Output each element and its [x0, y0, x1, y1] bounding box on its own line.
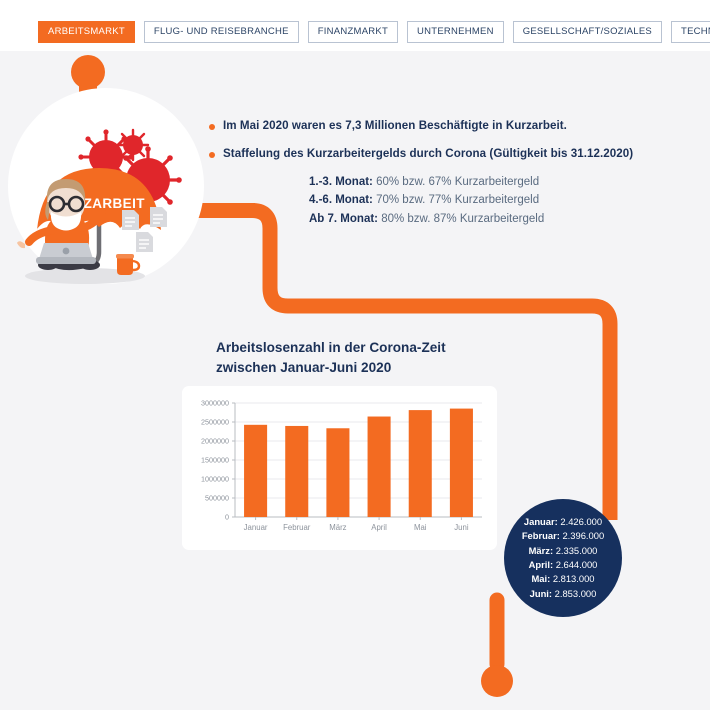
- data-circle-row: Januar: 2.426.000: [524, 515, 602, 529]
- tier-label: Ab 7. Monat:: [309, 213, 378, 225]
- document-icon: [122, 210, 139, 230]
- chart-title-line-2: zwischen Januar-Juni 2020: [216, 358, 536, 378]
- data-circle-row: Mai: 2.813.000: [531, 572, 594, 586]
- chart-bar: [450, 409, 473, 517]
- document-icon: [150, 207, 167, 227]
- data-circle-row: Juni: 2.853.000: [530, 587, 597, 601]
- monthly-values-circle: Januar: 2.426.000 Februar: 2.396.000 Mär…: [504, 499, 622, 617]
- data-circle-value: 2.853.000: [555, 588, 597, 599]
- data-circle-row: April: 2.644.000: [529, 558, 598, 572]
- x-tick-label: März: [329, 523, 346, 532]
- chart-bar: [368, 417, 391, 517]
- chart-bars: [244, 409, 473, 517]
- tab-flug-und-reisebranche[interactable]: FLUG- UND REISEBRANCHE: [144, 21, 299, 43]
- tier-label: 4.-6. Monat:: [309, 194, 373, 206]
- unemployment-bar-chart: 0500000100000015000002000000250000030000…: [182, 386, 497, 550]
- data-circle-row: März: 2.335.000: [529, 544, 598, 558]
- y-tick-label: 1500000: [201, 456, 229, 465]
- tier-label: 1.-3. Monat:: [309, 176, 373, 188]
- y-tick-label: 3000000: [201, 399, 229, 408]
- bullet-label: Im Mai 2020 waren es 7,3 Millionen Besch…: [223, 118, 567, 134]
- kurzarbeitergeld-tier-list: 1.-3. Monat: 60% bzw. 67% Kurzarbeiterge…: [209, 173, 699, 227]
- chart-bar: [326, 428, 349, 517]
- y-tick-label: 1000000: [201, 475, 229, 484]
- chart-bar: [409, 410, 432, 517]
- data-circle-month: Juni:: [530, 588, 552, 599]
- bullet-label: Staffelung des Kurzarbeitergelds durch C…: [223, 146, 633, 162]
- y-tick-label: 2500000: [201, 418, 229, 427]
- document-icon: [136, 232, 153, 252]
- chart-title-line-1: Arbeitslosenzahl in der Corona-Zeit: [216, 338, 536, 358]
- bullet-dot-icon: [209, 124, 215, 130]
- x-tick-label: Juni: [454, 523, 469, 532]
- tab-finanzmarkt[interactable]: FINANZMARKT: [308, 21, 398, 43]
- y-tick-label: 0: [225, 513, 229, 522]
- data-circle-value: 2.813.000: [553, 573, 595, 584]
- infographic-canvas: ARBEITSMARKT FLUG- UND REISEBRANCHE FINA…: [0, 0, 710, 710]
- tab-unternehmen[interactable]: UNTERNEHMEN: [407, 21, 504, 43]
- chart-y-axis-labels: 0500000100000015000002000000250000030000…: [201, 399, 235, 522]
- y-tick-label: 500000: [205, 494, 229, 503]
- tier-value: 80% bzw. 87% Kurzarbeitergeld: [381, 213, 544, 225]
- data-circle-month: März:: [529, 545, 553, 556]
- chart-title: Arbeitslosenzahl in der Corona-Zeit zwis…: [216, 338, 536, 377]
- data-circle-value: 2.335.000: [556, 545, 598, 556]
- chart-bar: [244, 425, 267, 517]
- laptop-icon: [36, 243, 96, 264]
- data-circle-month: Januar:: [524, 516, 558, 527]
- x-tick-label: Mai: [414, 523, 427, 532]
- data-circle-month: April:: [529, 559, 553, 570]
- key-facts-block: Im Mai 2020 waren es 7,3 Millionen Besch…: [209, 118, 699, 228]
- data-circle-row: Februar: 2.396.000: [522, 529, 604, 543]
- chart-gridlines: [235, 403, 482, 517]
- data-circle-value: 2.396.000: [562, 530, 604, 541]
- tier-value: 60% bzw. 67% Kurzarbeitergeld: [376, 176, 539, 188]
- tab-arbeitsmarkt[interactable]: ARBEITSMARKT: [38, 21, 135, 43]
- x-tick-label: April: [371, 523, 387, 532]
- data-circle-value: 2.644.000: [556, 559, 598, 570]
- x-tick-label: Februar: [283, 523, 311, 532]
- x-tick-label: Januar: [244, 523, 268, 532]
- tab-technologie[interactable]: TECHNOLOGIE: [671, 21, 710, 43]
- data-circle-value: 2.426.000: [560, 516, 602, 527]
- tab-list: ARBEITSMARKT FLUG- UND REISEBRANCHE FINA…: [38, 21, 710, 43]
- tab-gesellschaft-soziales[interactable]: GESELLSCHAFT/SOZIALES: [513, 21, 662, 43]
- chart-x-axis-labels: JanuarFebruarMärzAprilMaiJuni: [244, 517, 469, 532]
- bullet-dot-icon: [209, 152, 215, 158]
- category-tab-bar: ARBEITSMARKT FLUG- UND REISEBRANCHE FINA…: [0, 0, 710, 51]
- bullet-item: Im Mai 2020 waren es 7,3 Millionen Besch…: [209, 118, 699, 134]
- y-tick-label: 2000000: [201, 437, 229, 446]
- tier-row: 4.-6. Monat: 70% bzw. 77% Kurzarbeiterge…: [309, 191, 699, 209]
- chart-bar: [285, 426, 308, 517]
- data-circle-month: Februar:: [522, 530, 560, 541]
- data-circle-month: Mai:: [531, 573, 550, 584]
- virus-icon: [118, 130, 148, 160]
- tier-row: Ab 7. Monat: 80% bzw. 87% Kurzarbeiterge…: [309, 210, 699, 228]
- kurzarbeit-illustration: KURZARBEIT: [0, 52, 230, 292]
- bullet-item: Staffelung des Kurzarbeitergelds durch C…: [209, 146, 699, 162]
- tier-row: 1.-3. Monat: 60% bzw. 67% Kurzarbeiterge…: [309, 173, 699, 191]
- tier-value: 70% bzw. 77% Kurzarbeitergeld: [376, 194, 539, 206]
